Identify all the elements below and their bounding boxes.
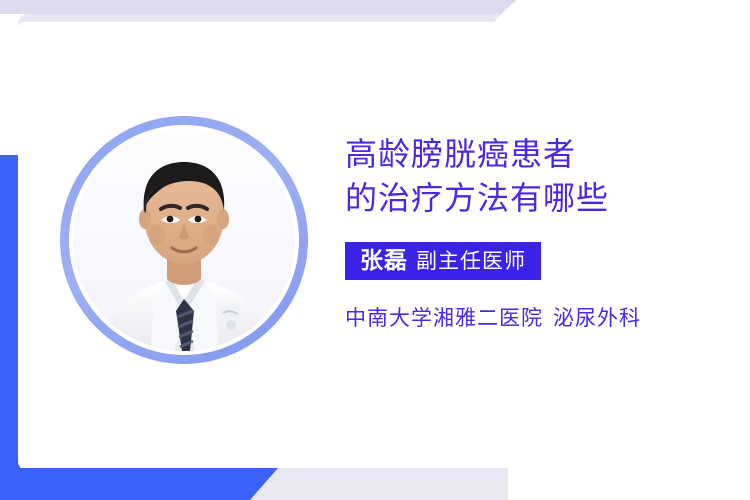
doctor-name: 张磊	[360, 247, 408, 273]
info-text-column: 高龄膀胱癌患者 的治疗方法有哪些 张磊副主任医师 中南大学湘雅二医院泌尿外科	[345, 132, 735, 331]
doctor-role: 副主任医师	[416, 250, 526, 273]
doctor-avatar	[60, 116, 308, 364]
avatar-photo	[73, 129, 295, 351]
doctor-affiliation: 中南大学湘雅二医院泌尿外科	[345, 306, 735, 331]
headline-line-1: 高龄膀胱癌患者	[345, 132, 735, 176]
headline-line-2: 的治疗方法有哪些	[345, 176, 735, 220]
doctor-name-badge: 张磊副主任医师	[345, 242, 541, 280]
doctor-portrait-illustration	[73, 129, 295, 351]
doctor-info-card: 高龄膀胱癌患者 的治疗方法有哪些 张磊副主任医师 中南大学湘雅二医院泌尿外科	[0, 0, 750, 500]
department-name: 泌尿外科	[553, 307, 641, 330]
left-blue-accent-bar	[0, 155, 20, 500]
hospital-name: 中南大学湘雅二医院	[345, 307, 543, 330]
